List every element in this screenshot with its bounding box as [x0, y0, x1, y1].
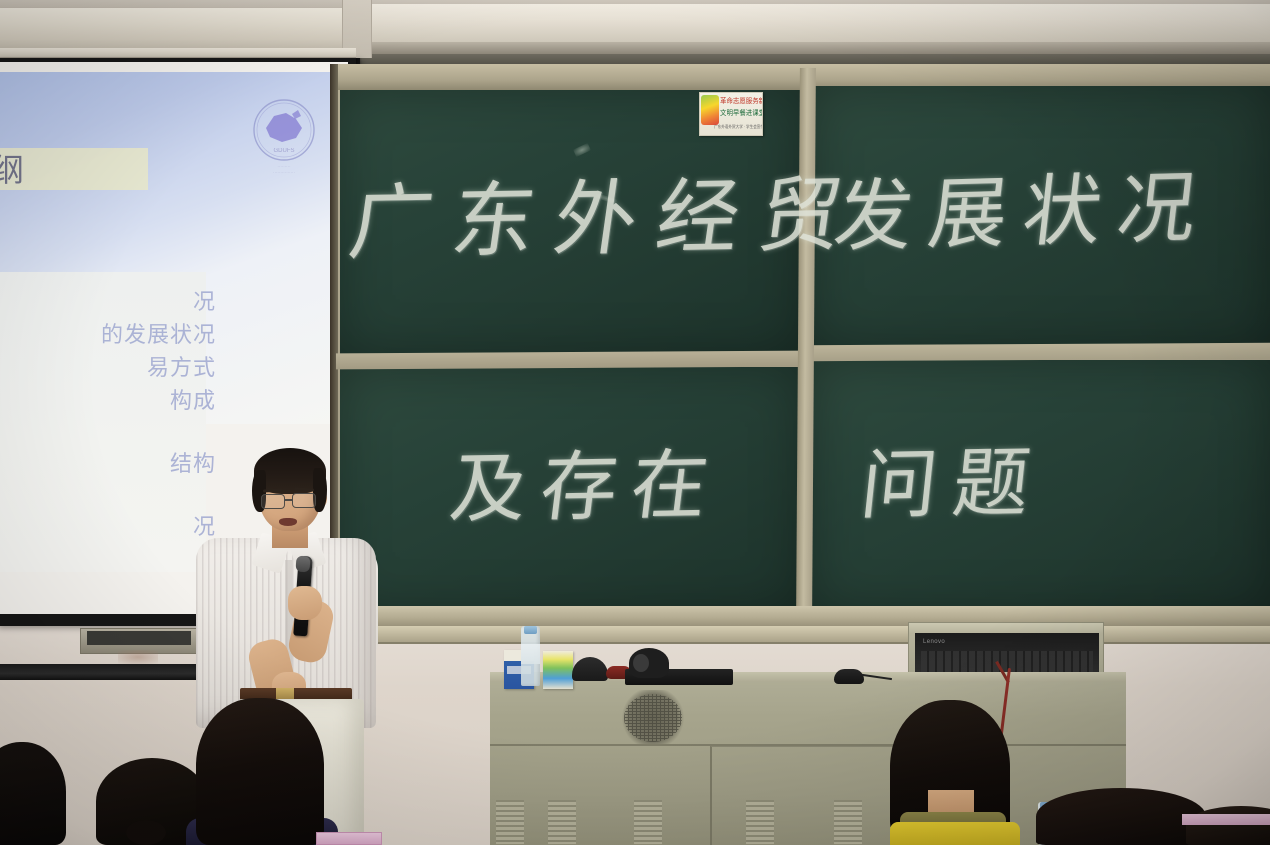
svg-text:GDUFS: GDUFS [274, 148, 295, 154]
chalkboard-divider-horizontal-left [336, 351, 802, 370]
microphone-head [295, 556, 310, 573]
slide-bullet-list: 况 的发展状况 易方式 构成 结构 况 [0, 286, 216, 544]
poster-headline: 革命志愿服务新风 [720, 97, 763, 106]
juice-carton-green[interactable] [543, 651, 573, 689]
poster-fruit-illustration [701, 95, 719, 125]
svg-text:·········: ········· [277, 164, 290, 169]
chalkboard-bottom-frame [334, 606, 1270, 628]
chalkboard-panel-bottom-left[interactable] [340, 367, 800, 612]
slide-bullet-3: 构成 [0, 385, 216, 418]
ceiling-beam-shadow [356, 42, 1270, 54]
slide-bullet-7: 况 [0, 511, 216, 544]
slide-bullet-spacer-a [0, 418, 216, 448]
student-head-right [1036, 788, 1206, 845]
student-head-far-right [1186, 806, 1270, 845]
screen-roller-lip [0, 48, 356, 58]
student-hair-bun [126, 820, 166, 845]
chalkboard-panel-top-right[interactable] [812, 86, 1270, 348]
podium-vent-4 [834, 800, 862, 844]
podium-vent-3 [746, 800, 774, 844]
laptop-brand-label: Lenovo [923, 639, 945, 645]
chalkboard-panel-bottom-right[interactable] [812, 360, 1270, 612]
podium-speaker-grille [620, 690, 686, 746]
water-bottle-cap[interactable] [524, 626, 537, 634]
pink-notice-card [316, 832, 382, 845]
podium-vent-1 [548, 800, 576, 844]
slide-bullet-5: 结构 [0, 448, 216, 481]
eyeglasses-lens-left [261, 494, 285, 509]
wall-scuff-mark [118, 650, 158, 664]
student-head-center [196, 698, 324, 845]
water-bottle-label [521, 644, 540, 664]
classroom-photo-scene: 纲 GDUFS ········· ··············· 况 的发展状… [0, 0, 1270, 845]
chalk-tray[interactable] [334, 626, 1270, 644]
lecturer-hand-upper [288, 586, 322, 620]
slide-bullet-2: 易方式 [0, 352, 216, 385]
podium-monitor-compartment[interactable]: Lenovo [908, 622, 1104, 676]
pink-notice-card-right [1182, 814, 1270, 825]
wall-mount-recess [87, 631, 191, 645]
eyeglasses-bridge [285, 499, 293, 501]
chalkboard-divider-horizontal-right [808, 343, 1270, 361]
student-yellow-polo [890, 822, 1020, 845]
screen-roller-casing-right [348, 4, 1270, 44]
computer-mouse-black[interactable] [834, 669, 864, 684]
svg-text:···············: ··············· [273, 170, 295, 175]
wall-poster[interactable]: 革命志愿服务新风 文明早餐进课堂 广东外语外贸大学 · 学生会宣传部 [699, 92, 763, 136]
slide-bullet-spacer-b [0, 481, 216, 511]
eyeglasses-lens-right [292, 493, 316, 508]
poster-footer: 广东外语外贸大学 · 学生会宣传部 [714, 124, 763, 130]
podium-vent-2 [634, 800, 662, 844]
institution-seal-logo: GDUFS ········· ··············· [246, 94, 322, 178]
screen-roller-casing [0, 8, 352, 52]
headset[interactable] [629, 648, 669, 678]
slide-title: 纲 [0, 150, 26, 190]
poster-subheadline: 文明早餐进课堂 [720, 109, 763, 118]
slide-bullet-0: 况 [0, 286, 216, 319]
slide-bullet-1: 的发展状况 [0, 319, 216, 352]
lecturer-mouth [279, 518, 297, 526]
podium-vent-5 [496, 800, 524, 844]
